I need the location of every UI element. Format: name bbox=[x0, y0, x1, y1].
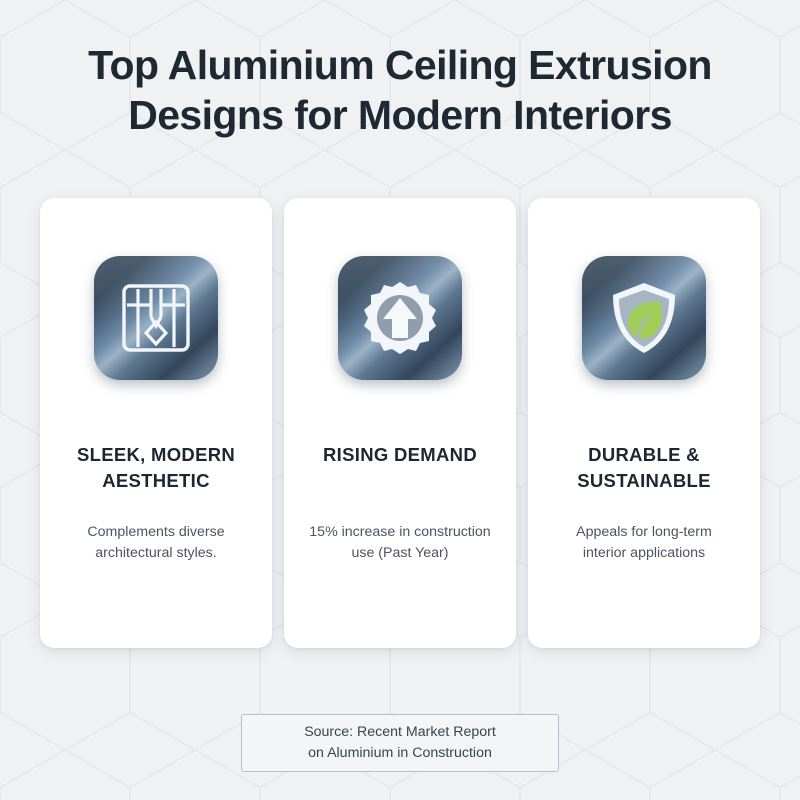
ceiling-panel-icon bbox=[117, 279, 195, 357]
feature-card-heading: SLEEK, MODERN AESTHETIC bbox=[58, 442, 254, 494]
feature-card-body-line-1: 15% increase in construction bbox=[300, 522, 500, 543]
feature-cards-row: SLEEK, MODERN AESTHETIC Complements dive… bbox=[40, 198, 760, 648]
feature-card-body-line-1: Complements diverse bbox=[56, 522, 256, 543]
page-title-line-2: Designs for Modern Interiors bbox=[0, 90, 800, 140]
source-citation-box: Source: Recent Market Report on Aluminiu… bbox=[241, 714, 559, 772]
infographic-root: Top Aluminium Ceiling Extrusion Designs … bbox=[0, 0, 800, 800]
feature-card-body-line-2: architectural styles. bbox=[56, 543, 256, 564]
source-line-1: Source: Recent Market Report bbox=[304, 722, 496, 743]
feature-card-body: Appeals for long-term interior applicati… bbox=[544, 522, 744, 564]
feature-card-body-line-1: Appeals for long-term bbox=[544, 522, 744, 543]
feature-card-body: Complements diverse architectural styles… bbox=[56, 522, 256, 564]
page-title-line-1: Top Aluminium Ceiling Extrusion bbox=[0, 40, 800, 90]
icon-tile-rising-demand bbox=[338, 256, 462, 380]
icon-tile-ceiling-panel bbox=[94, 256, 218, 380]
feature-card-body: 15% increase in construction use (Past Y… bbox=[300, 522, 500, 564]
feature-card-body-line-2: use (Past Year) bbox=[300, 543, 500, 564]
feature-card-heading: DURABLE & SUSTAINABLE bbox=[546, 442, 742, 494]
feature-card-sleek-modern-aesthetic[interactable]: SLEEK, MODERN AESTHETIC Complements dive… bbox=[40, 198, 272, 648]
feature-card-durable-sustainable[interactable]: DURABLE & SUSTAINABLE Appeals for long-t… bbox=[528, 198, 760, 648]
icon-tile-durable-sustainable bbox=[582, 256, 706, 380]
page-title: Top Aluminium Ceiling Extrusion Designs … bbox=[0, 40, 800, 140]
source-line-2: on Aluminium in Construction bbox=[308, 743, 492, 764]
shield-leaf-icon bbox=[604, 278, 684, 358]
feature-card-body-line-2: interior applications bbox=[544, 543, 744, 564]
feature-card-heading: RISING DEMAND bbox=[302, 442, 498, 468]
feature-card-rising-demand[interactable]: RISING DEMAND 15% increase in constructi… bbox=[284, 198, 516, 648]
gear-up-arrow-icon bbox=[360, 278, 440, 358]
